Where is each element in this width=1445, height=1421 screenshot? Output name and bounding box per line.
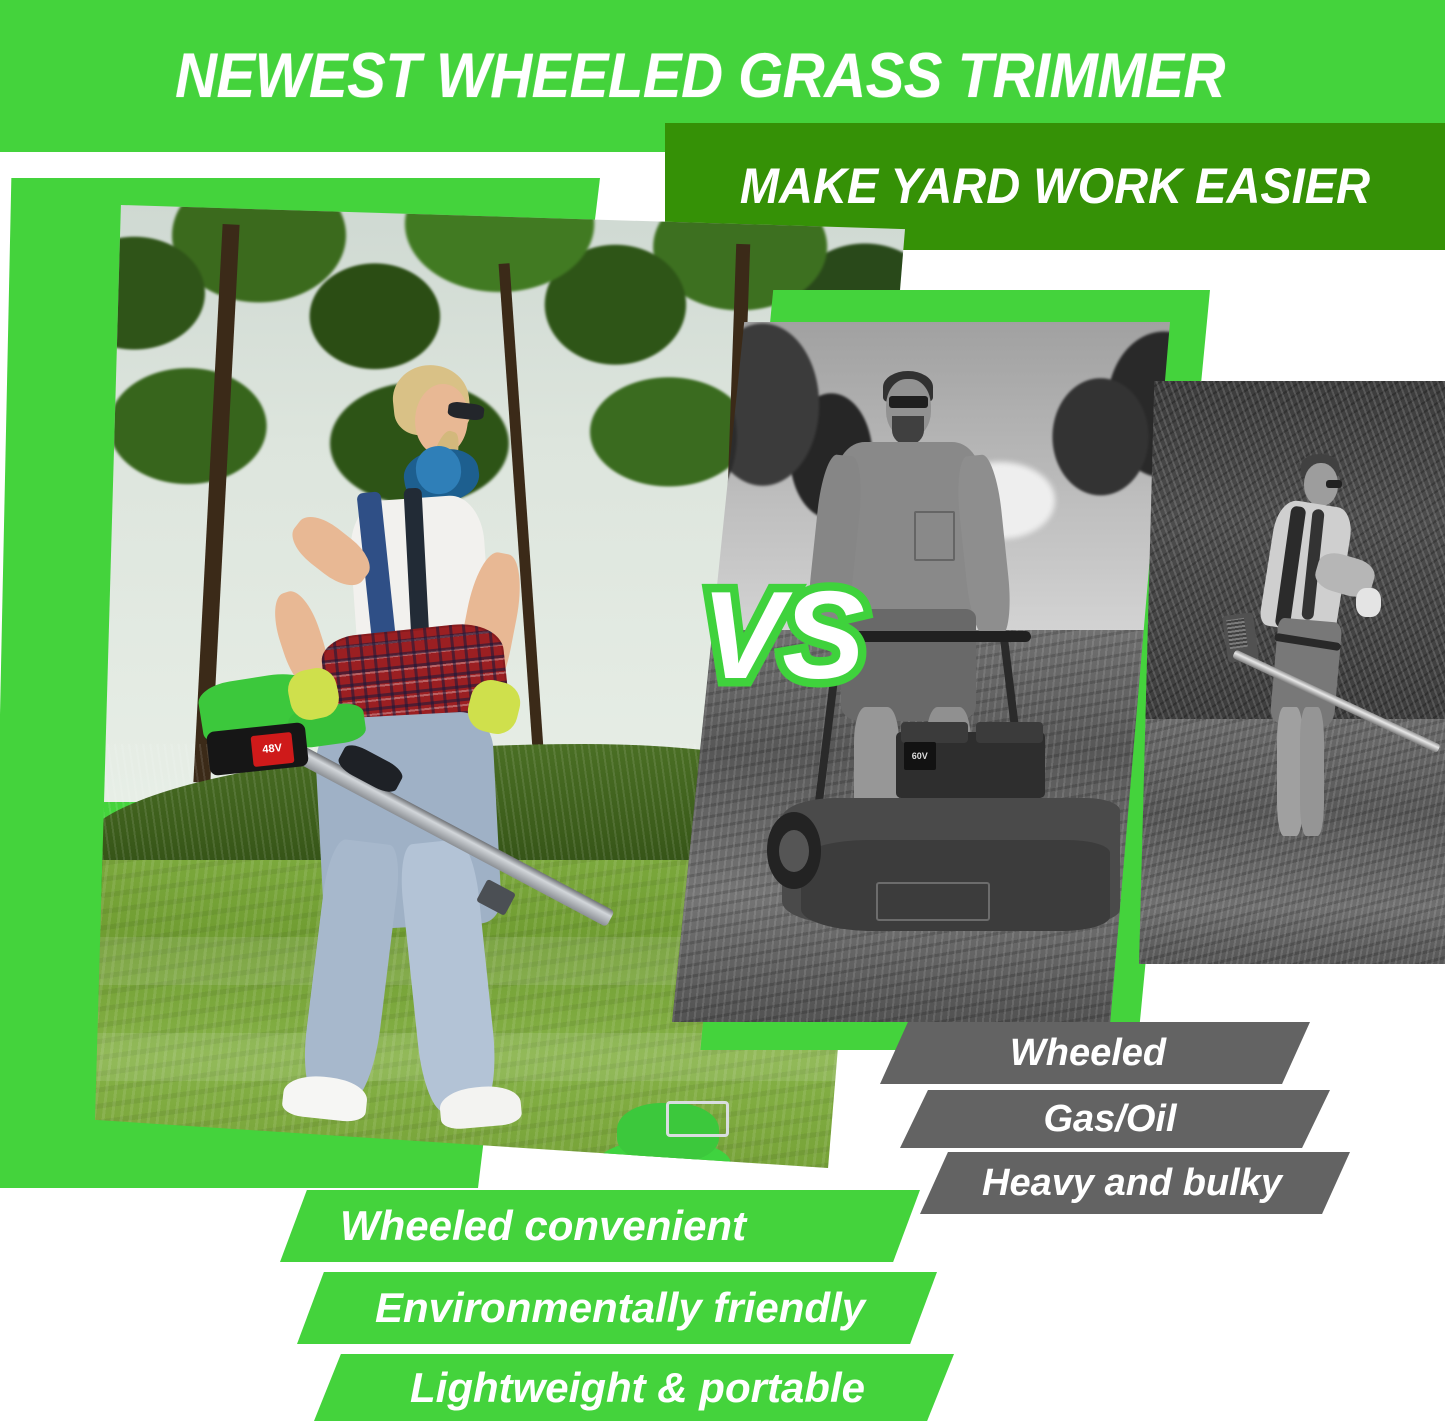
feature-label: Environmentally friendly xyxy=(297,1284,865,1332)
mower-voltage-badge: 60V xyxy=(904,742,936,770)
competitor-label: Gas/Oil xyxy=(900,1098,1330,1141)
competitor-bar-gas-oil[interactable]: Gas/Oil xyxy=(900,1090,1330,1148)
feature-bar-lightweight-portable[interactable]: Lightweight & portable xyxy=(314,1354,954,1421)
competitor-label: Wheeled xyxy=(880,1032,1310,1075)
feature-bar-environmentally-friendly[interactable]: Environmentally friendly xyxy=(297,1272,937,1344)
page-title: NEWEST WHEELED GRASS TRIMMER xyxy=(56,30,1344,122)
competitor-bar-heavy-bulky[interactable]: Heavy and bulky xyxy=(920,1152,1350,1214)
battery-voltage-badge: 48V xyxy=(251,732,294,767)
feature-bar-wheeled-convenient[interactable]: Wheeled convenient xyxy=(280,1190,920,1262)
right-competitor-photo xyxy=(1139,381,1445,964)
competitor-label: Heavy and bulky xyxy=(920,1162,1350,1205)
page-subtitle: MAKE YARD WORK EASIER xyxy=(688,150,1421,222)
feature-label: Lightweight & portable xyxy=(314,1364,865,1412)
vs-badge: VS xyxy=(662,576,902,696)
infographic-canvas: NEWEST WHEELED GRASS TRIMMER MAKE YARD W… xyxy=(0,0,1445,1421)
feature-label: Wheeled convenient xyxy=(280,1202,746,1250)
competitor-bar-wheeled[interactable]: Wheeled xyxy=(880,1022,1310,1084)
